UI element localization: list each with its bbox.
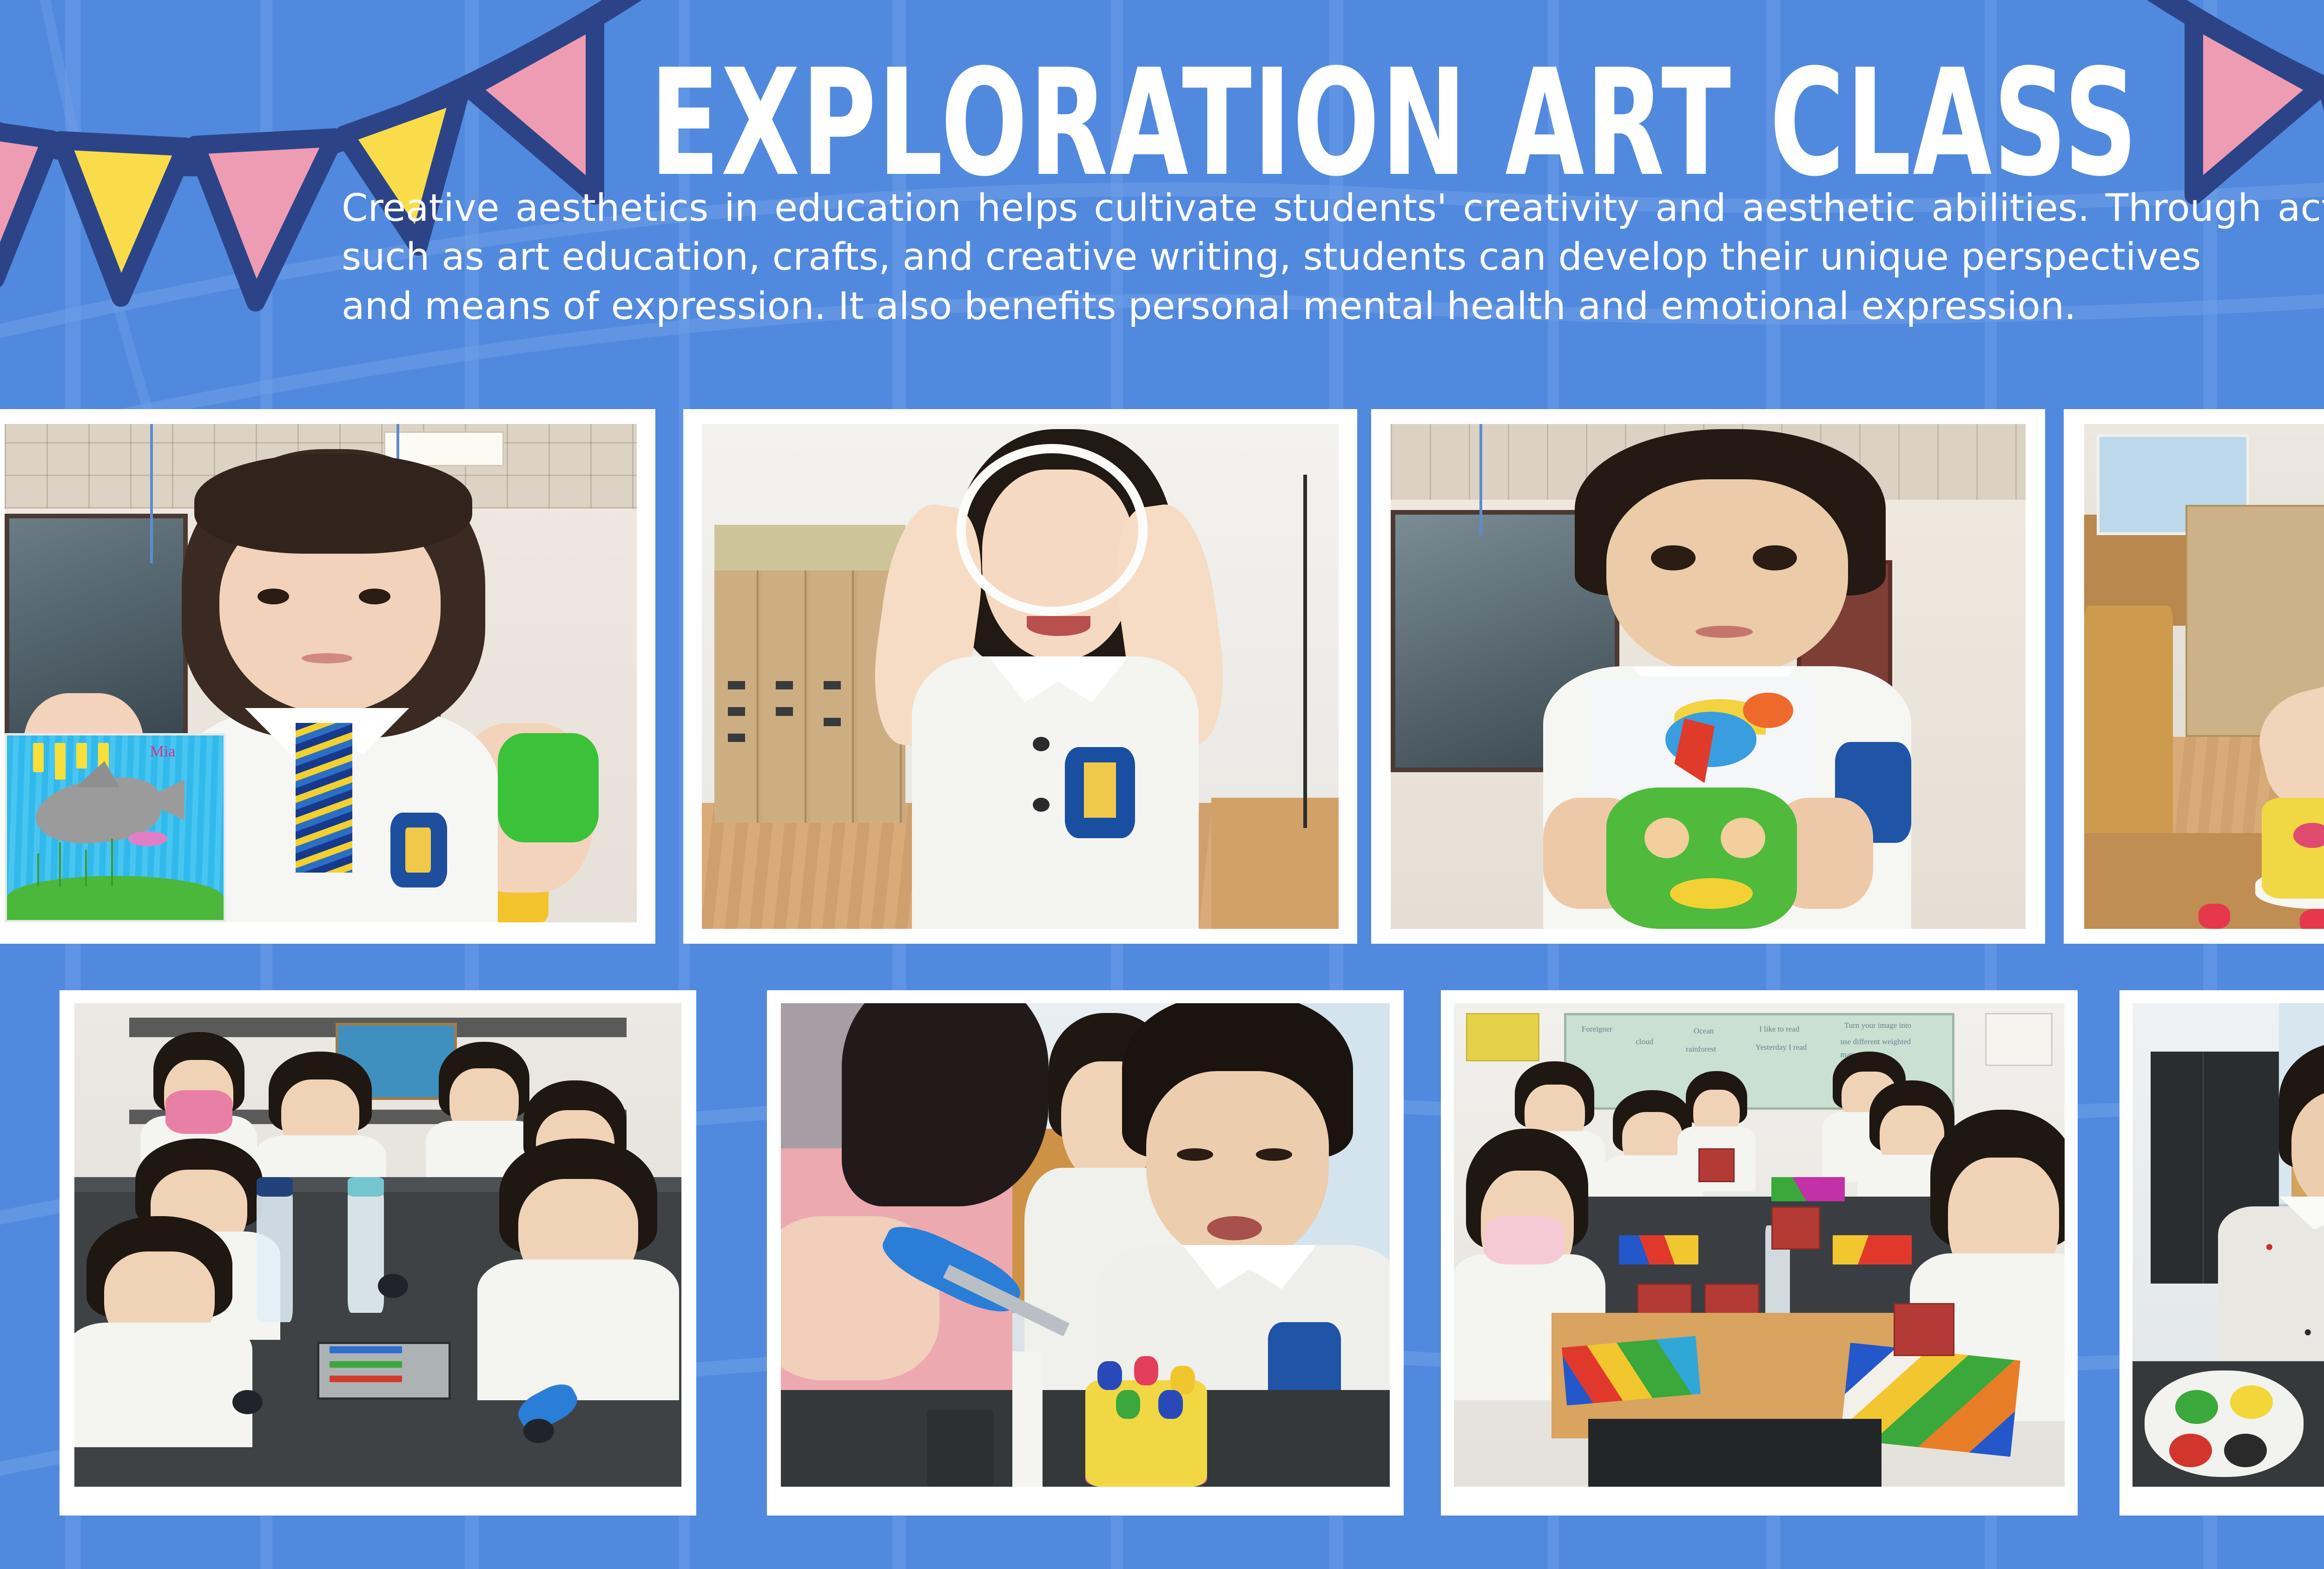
green-clay (498, 733, 599, 843)
photo-3-image (1391, 424, 2026, 929)
photo-frame-8[interactable] (2119, 990, 2324, 1516)
photo-frame-6[interactable] (767, 990, 1404, 1516)
photo-frame-2[interactable] (683, 409, 1357, 944)
photo-frame-5[interactable] (59, 990, 696, 1516)
paint-palette (2145, 1370, 2304, 1477)
clay-cake (2262, 798, 2324, 899)
photo-1-image: Mia (5, 424, 637, 922)
header: EXPLORATION ART CLASS Creative aesthetic… (0, 0, 2324, 331)
photo-frame-7[interactable]: Foreigner cloud Ocean rainforest I like … (1441, 990, 2078, 1516)
board-word-6: Yesterday I read (1756, 1043, 1807, 1052)
geometric-artwork-left (1562, 1336, 1701, 1406)
photo-2-image (702, 424, 1339, 929)
photo-6-image (781, 1003, 1390, 1487)
board-word-8: use different weighted (1840, 1037, 1911, 1046)
board-word-7: Turn your image into (1844, 1021, 1911, 1030)
photo-5-image (74, 1003, 681, 1487)
photo-8-image (2133, 1003, 2324, 1487)
board-word-2: cloud (1636, 1037, 1653, 1046)
photo-frame-3[interactable] (1371, 409, 2045, 944)
photo-7-image: Foreigner cloud Ocean rainforest I like … (1454, 1003, 2065, 1487)
photo-frame-1[interactable]: Mia (0, 409, 655, 944)
intro-line-3: and means of expression. It also benefit… (342, 282, 2324, 331)
drawing-signature: Mia (150, 743, 176, 761)
photo-4-image (2084, 424, 2324, 929)
board-word-4: rainforest (1686, 1045, 1716, 1054)
clay-cake (1085, 1380, 1207, 1487)
board-word-1: Foreigner (1582, 1025, 1612, 1034)
page-title: EXPLORATION ART CLASS (251, 0, 2324, 193)
board-word-5: I like to read (1759, 1025, 1799, 1034)
dolphin-drawing: Mia (5, 733, 226, 922)
photo-frame-4[interactable] (2064, 409, 2324, 944)
board-word-3: Ocean (1694, 1026, 1714, 1036)
paper-plate-ring (957, 444, 1148, 616)
